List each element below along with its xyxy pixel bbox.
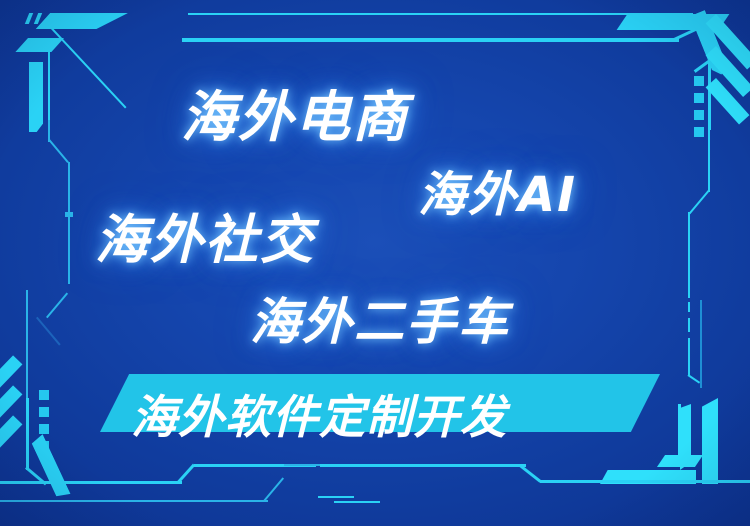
- bottom-left-stripe-3: [0, 415, 22, 469]
- left-trace-diagonal-2: [46, 292, 68, 318]
- top-right-square-3: [694, 110, 704, 120]
- bottom-trace-b-diagonal: [263, 477, 284, 501]
- bottom-left-square-1: [39, 390, 49, 400]
- right-trace-dash-1: [688, 302, 690, 312]
- top-left-vertical-bar: [29, 62, 43, 132]
- right-trace-segment-4: [700, 300, 702, 388]
- top-right-square-4: [694, 127, 704, 137]
- left-trace-diagonal-1: [48, 139, 69, 163]
- left-trace-segment-3: [68, 222, 70, 284]
- bottom-trace-a: [0, 481, 182, 484]
- bottom-trace-c: [540, 480, 750, 483]
- bottom-right-inner-wedge: [657, 455, 703, 467]
- headline-overseas-ai: 海外AI: [418, 155, 577, 225]
- top-left-tick-one: [25, 13, 33, 24]
- left-trace-ghost-diagonal: [36, 317, 61, 346]
- right-trace-diagonal-1: [689, 190, 710, 214]
- bottom-left-square-3: [39, 424, 49, 434]
- top-border-thick-line: [182, 38, 679, 42]
- top-left-slab-lower: [15, 38, 64, 52]
- headline-overseas-used-cars: 海外二手车: [250, 282, 510, 354]
- bottom-right-outer-vertical: [702, 398, 718, 484]
- bottom-left-blade: [30, 434, 71, 500]
- top-left-diagonal-line: [50, 27, 126, 109]
- right-trace-segment-2: [688, 212, 690, 298]
- top-left-tick-two: [34, 13, 42, 24]
- bottom-trace-c-top: [320, 464, 526, 467]
- bottom-trace-b-top: [284, 464, 324, 466]
- right-trace-dash-2: [688, 318, 690, 332]
- top-border-thin-line: [188, 13, 693, 15]
- bottom-left-square-2: [39, 407, 49, 417]
- headline-overseas-ecommerce: 海外电商: [181, 72, 409, 152]
- headline-overseas-social: 海外社交: [95, 198, 315, 274]
- poster-canvas: 海外电商 海外AI 海外社交 海外二手车 海外软件定制开发: [0, 0, 750, 526]
- top-right-square-2: [694, 93, 704, 103]
- top-left-vertical-hair: [48, 38, 50, 126]
- bottom-trace-d-lower: [334, 501, 380, 503]
- top-right-corner-vertical: [708, 58, 711, 130]
- right-trace-segment-1: [708, 130, 710, 192]
- bottom-trace-d-upper: [318, 496, 354, 498]
- bottom-left-corner-vertical: [26, 398, 29, 470]
- right-trace-segment-3: [688, 338, 690, 376]
- bottom-trace-c-diagonal: [519, 464, 541, 482]
- top-right-square-1: [694, 76, 704, 86]
- left-trace-notch: [65, 212, 73, 217]
- banner-label: 海外软件定制开发: [131, 381, 507, 447]
- bottom-trace-a-diagonal: [177, 464, 195, 484]
- bottom-trace-b: [0, 500, 268, 502]
- right-trace-hook: [687, 374, 700, 383]
